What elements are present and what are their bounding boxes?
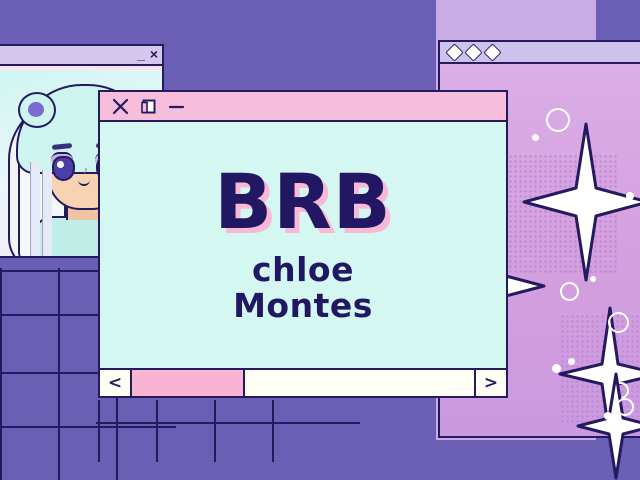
bubble-icon [626,192,634,200]
close-icon[interactable]: × [150,45,158,63]
scroll-right-button[interactable]: > [474,370,506,396]
scrollbar-thumb[interactable] [132,370,245,396]
diamond-icon [483,43,501,61]
right-window-titlebar[interactable] [440,42,640,64]
main-window-body: BRB chloe Montes [100,122,506,368]
left-window-titlebar[interactable]: _ × [0,46,162,66]
four-point-star-icon [576,372,640,480]
minimize-icon[interactable] [168,98,185,115]
diamond-icon [464,43,482,61]
bubble-icon [546,108,570,132]
main-window-titlebar[interactable] [100,92,506,122]
bubble-icon [604,412,612,420]
close-icon[interactable] [112,98,129,115]
maximize-icon[interactable] [140,98,157,115]
bubble-icon [616,398,634,416]
scroll-left-button[interactable]: < [100,370,132,396]
page-title: BRB [214,166,391,238]
subtitle-first-name: chloe [252,252,354,288]
scrollbar-track[interactable] [132,370,474,396]
diamond-icon [445,43,463,61]
horizontal-scrollbar[interactable]: < > [100,368,506,396]
window-main-brb[interactable]: BRB chloe Montes < > [98,90,508,398]
bubble-icon [552,364,561,373]
bubble-icon [560,282,579,301]
decor-grid-bottom [96,400,396,480]
screenshot-canvas: _ × [0,0,640,480]
bubble-icon [532,134,539,141]
bubble-icon [568,358,575,365]
subtitle-last-name: Montes [233,288,373,324]
minimize-icon[interactable]: _ [137,45,145,63]
bubble-icon [590,276,596,282]
bubble-icon [608,312,629,333]
